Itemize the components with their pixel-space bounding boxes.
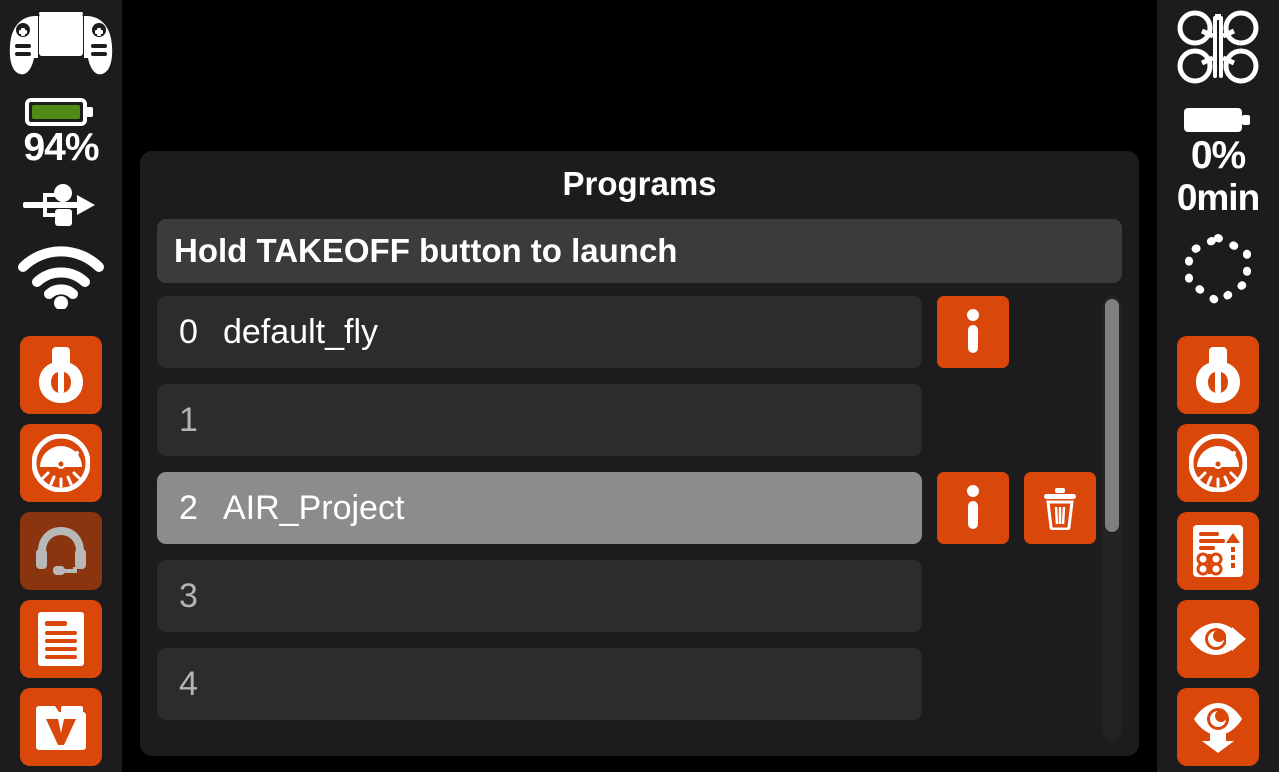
program-name: AIR_Project (223, 489, 404, 528)
program-slot-4[interactable]: 4 (157, 648, 922, 720)
trash-icon (1040, 486, 1080, 530)
list-item: 2 AIR_Project (157, 472, 1122, 544)
status-message-bar: Hold TAKEOFF button to launch (157, 219, 1122, 283)
left-status-group: 94% (0, 0, 122, 309)
eye-arrow-down-icon (1190, 699, 1246, 755)
program-info-button-2[interactable] (937, 472, 1009, 544)
wrench-icon (1192, 347, 1244, 403)
drone-button-telemetry[interactable] (1177, 424, 1259, 502)
program-info-button-0[interactable] (937, 296, 1009, 368)
quadcopter-drone-icon (1175, 8, 1261, 86)
controller-battery-percent: 94% (23, 128, 98, 167)
row-actions (937, 296, 1009, 368)
program-index: 0 (179, 313, 215, 352)
drone-button-settings[interactable] (1177, 336, 1259, 414)
program-slot-2[interactable]: 2 AIR_Project (157, 472, 922, 544)
list-item: 1 (157, 384, 1122, 456)
dashed-pentagon-icon (1181, 234, 1255, 306)
program-slot-1[interactable]: 1 (157, 384, 922, 456)
program-slot-3[interactable]: 3 (157, 560, 922, 632)
program-list-scrollbar[interactable] (1102, 296, 1122, 740)
list-item: 4 (157, 648, 1122, 720)
eye-arrow-right-icon (1188, 619, 1248, 659)
usb-icon (19, 179, 103, 231)
document-drone-upload-icon (1190, 523, 1246, 579)
gamepad-controller-icon (6, 8, 116, 80)
info-i-icon (965, 309, 981, 355)
program-list: 0 default_fly 1 (157, 296, 1122, 740)
right-sidebar: 0% 0min (1157, 0, 1279, 772)
left-button-group (0, 336, 122, 766)
row-actions (937, 472, 1096, 544)
list-item: 3 (157, 560, 1122, 632)
status-message-text: Hold TAKEOFF button to launch (174, 232, 677, 270)
right-button-group (1157, 336, 1279, 766)
program-index: 1 (179, 401, 215, 440)
program-name: default_fly (223, 313, 378, 352)
sidebar-button-headset[interactable] (20, 512, 102, 590)
gauge-icon (1189, 434, 1247, 492)
gauge-icon (32, 434, 90, 492)
program-index: 2 (179, 489, 215, 528)
folder-download-icon (33, 701, 89, 753)
program-delete-button-2[interactable] (1024, 472, 1096, 544)
drone-flight-time: 0min (1177, 179, 1259, 216)
drone-button-view-forward[interactable] (1177, 600, 1259, 678)
sidebar-button-telemetry[interactable] (20, 424, 102, 502)
sidebar-button-download[interactable] (20, 688, 102, 766)
left-sidebar: 94% (0, 0, 122, 772)
list-item: 0 default_fly (157, 296, 1122, 368)
drone-button-program-upload[interactable] (1177, 512, 1259, 590)
program-slot-0[interactable]: 0 default_fly (157, 296, 922, 368)
document-lines-icon (36, 610, 86, 668)
sidebar-button-settings[interactable] (20, 336, 102, 414)
right-status-group: 0% 0min (1157, 0, 1279, 306)
scrollbar-thumb[interactable] (1105, 299, 1119, 532)
programs-panel: Programs Hold TAKEOFF button to launch 0… (140, 151, 1139, 756)
drone-button-view-down[interactable] (1177, 688, 1259, 766)
page-title: Programs (140, 151, 1139, 200)
info-i-icon (965, 485, 981, 531)
wrench-icon (35, 347, 87, 403)
program-index: 3 (179, 577, 215, 616)
sidebar-button-logs[interactable] (20, 600, 102, 678)
drone-battery-percent: 0% (1191, 136, 1245, 175)
headset-icon (33, 525, 89, 577)
device-screen: 94% (0, 0, 1279, 772)
battery-full-icon (25, 96, 97, 128)
wifi-icon (15, 243, 107, 309)
battery-empty-icon (1182, 104, 1254, 136)
program-index: 4 (179, 665, 215, 704)
